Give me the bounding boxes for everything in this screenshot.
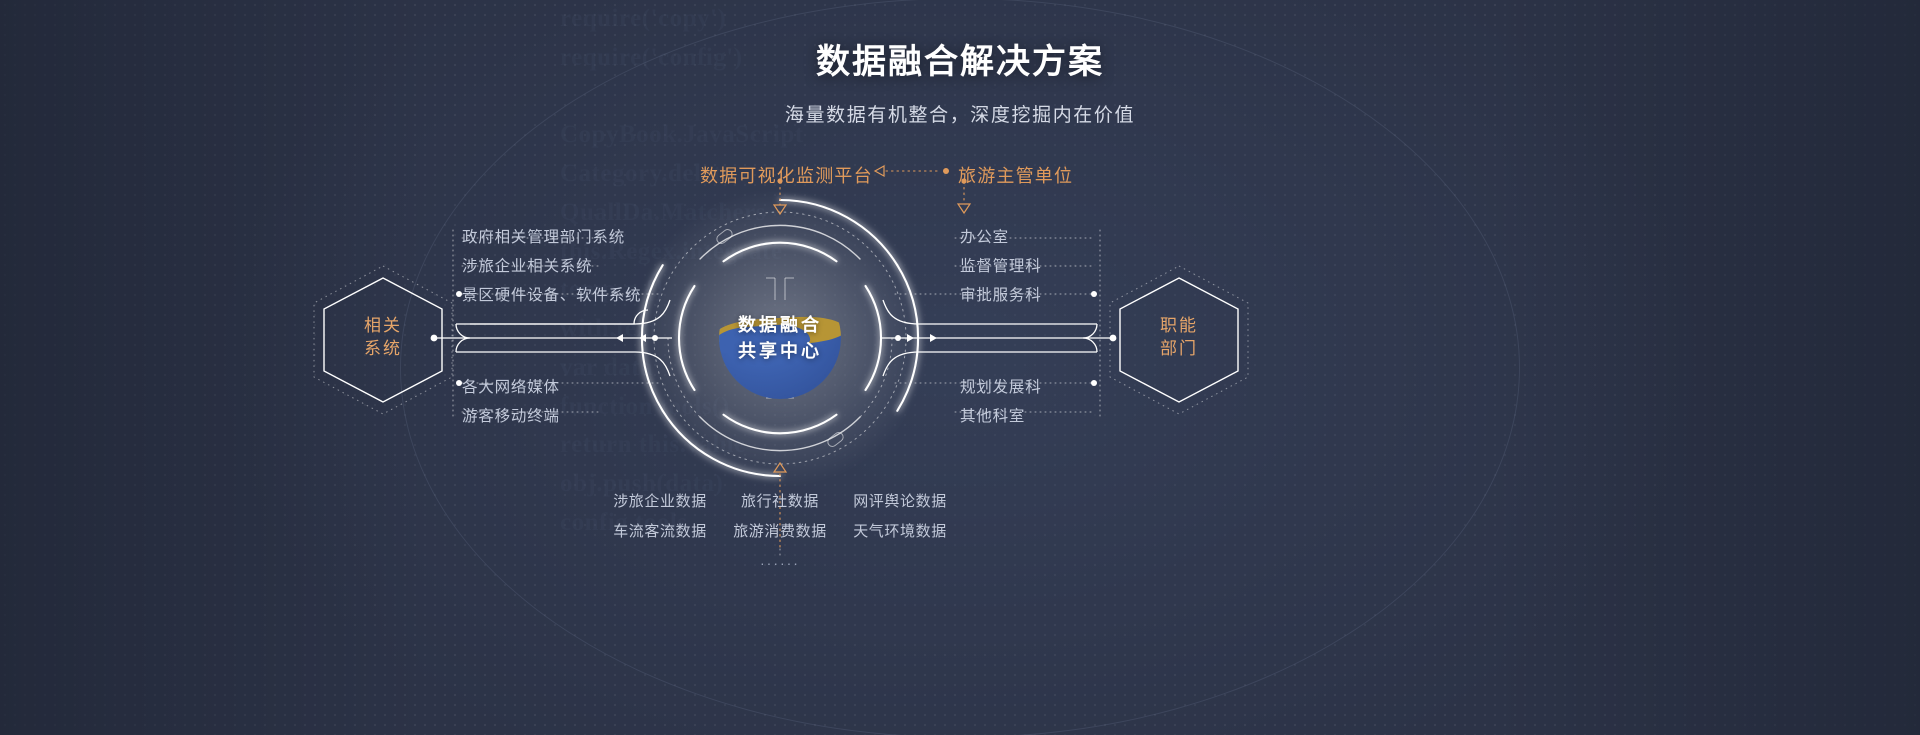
center-globe-label: 数据融合 共享中心 [719, 277, 841, 399]
list-item[interactable]: 办公室 [960, 223, 1042, 252]
label-visualization-platform[interactable]: 数据可视化监测平台 [700, 162, 873, 188]
list-item[interactable]: 监督管理科 [960, 252, 1042, 281]
hexagon-badge-functional-departments[interactable]: 职能 部门 [1120, 273, 1238, 401]
grid-cell[interactable]: 天气环境数据 [840, 517, 960, 547]
grid-cell[interactable]: 涉旅企业数据 [600, 487, 720, 517]
hexagon-left-line2: 系统 [364, 337, 402, 360]
list-item[interactable]: 政府相关管理部门系统 [462, 223, 641, 252]
center-globe[interactable]: 数据融合 共享中心 [719, 277, 841, 399]
page-title: 数据融合解决方案 [0, 34, 1920, 83]
hexagon-right-line2: 部门 [1160, 337, 1198, 360]
list-right-top: 办公室 监督管理科 审批服务科 [960, 223, 1042, 310]
hexagon-badge-related-systems[interactable]: 相关 系统 [324, 273, 442, 401]
list-item[interactable]: 各大网络媒体 [462, 373, 560, 402]
table-row: 车流客流数据 旅游消费数据 天气环境数据 [600, 517, 960, 547]
grid-ellipsis: ······ [600, 555, 960, 571]
hexagon-right-line1: 职能 [1160, 314, 1198, 337]
list-left-top: 政府相关管理部门系统 涉旅企业相关系统 景区硬件设备、软件系统 [462, 223, 641, 310]
hexagon-right-label: 职能 部门 [1120, 273, 1238, 401]
header: 数据融合解决方案 海量数据有机整合，深度挖掘内在价值 [0, 34, 1920, 127]
list-left-bottom: 各大网络媒体 游客移动终端 [462, 373, 560, 431]
grid-cell[interactable]: 旅游消费数据 [720, 517, 840, 547]
connector-top-horizontal [875, 166, 949, 176]
page-subtitle: 海量数据有机整合，深度挖掘内在价值 [0, 100, 1920, 127]
grid-cell[interactable]: 车流客流数据 [600, 517, 720, 547]
list-item[interactable]: 规划发展科 [960, 373, 1042, 402]
center-line2: 共享中心 [738, 338, 822, 364]
list-item[interactable]: 其他科室 [960, 402, 1042, 431]
center-line1: 数据融合 [738, 312, 822, 338]
list-item[interactable]: 游客移动终端 [462, 402, 560, 431]
label-tourism-authority[interactable]: 旅游主管单位 [958, 162, 1073, 188]
grid-cell[interactable]: 网评舆论数据 [840, 487, 960, 517]
list-item[interactable]: 涉旅企业相关系统 [462, 252, 641, 281]
hexagon-left-label: 相关 系统 [324, 273, 442, 401]
bottom-data-grid: 涉旅企业数据 旅行社数据 网评舆论数据 车流客流数据 旅游消费数据 天气环境数据… [600, 487, 960, 571]
list-right-bottom: 规划发展科 其他科室 [960, 373, 1042, 431]
list-item[interactable]: 景区硬件设备、软件系统 [462, 281, 641, 310]
list-item[interactable]: 审批服务科 [960, 281, 1042, 310]
grid-cell[interactable]: 旅行社数据 [720, 487, 840, 517]
table-row: 涉旅企业数据 旅行社数据 网评舆论数据 [600, 487, 960, 517]
hexagon-left-line1: 相关 [364, 314, 402, 337]
